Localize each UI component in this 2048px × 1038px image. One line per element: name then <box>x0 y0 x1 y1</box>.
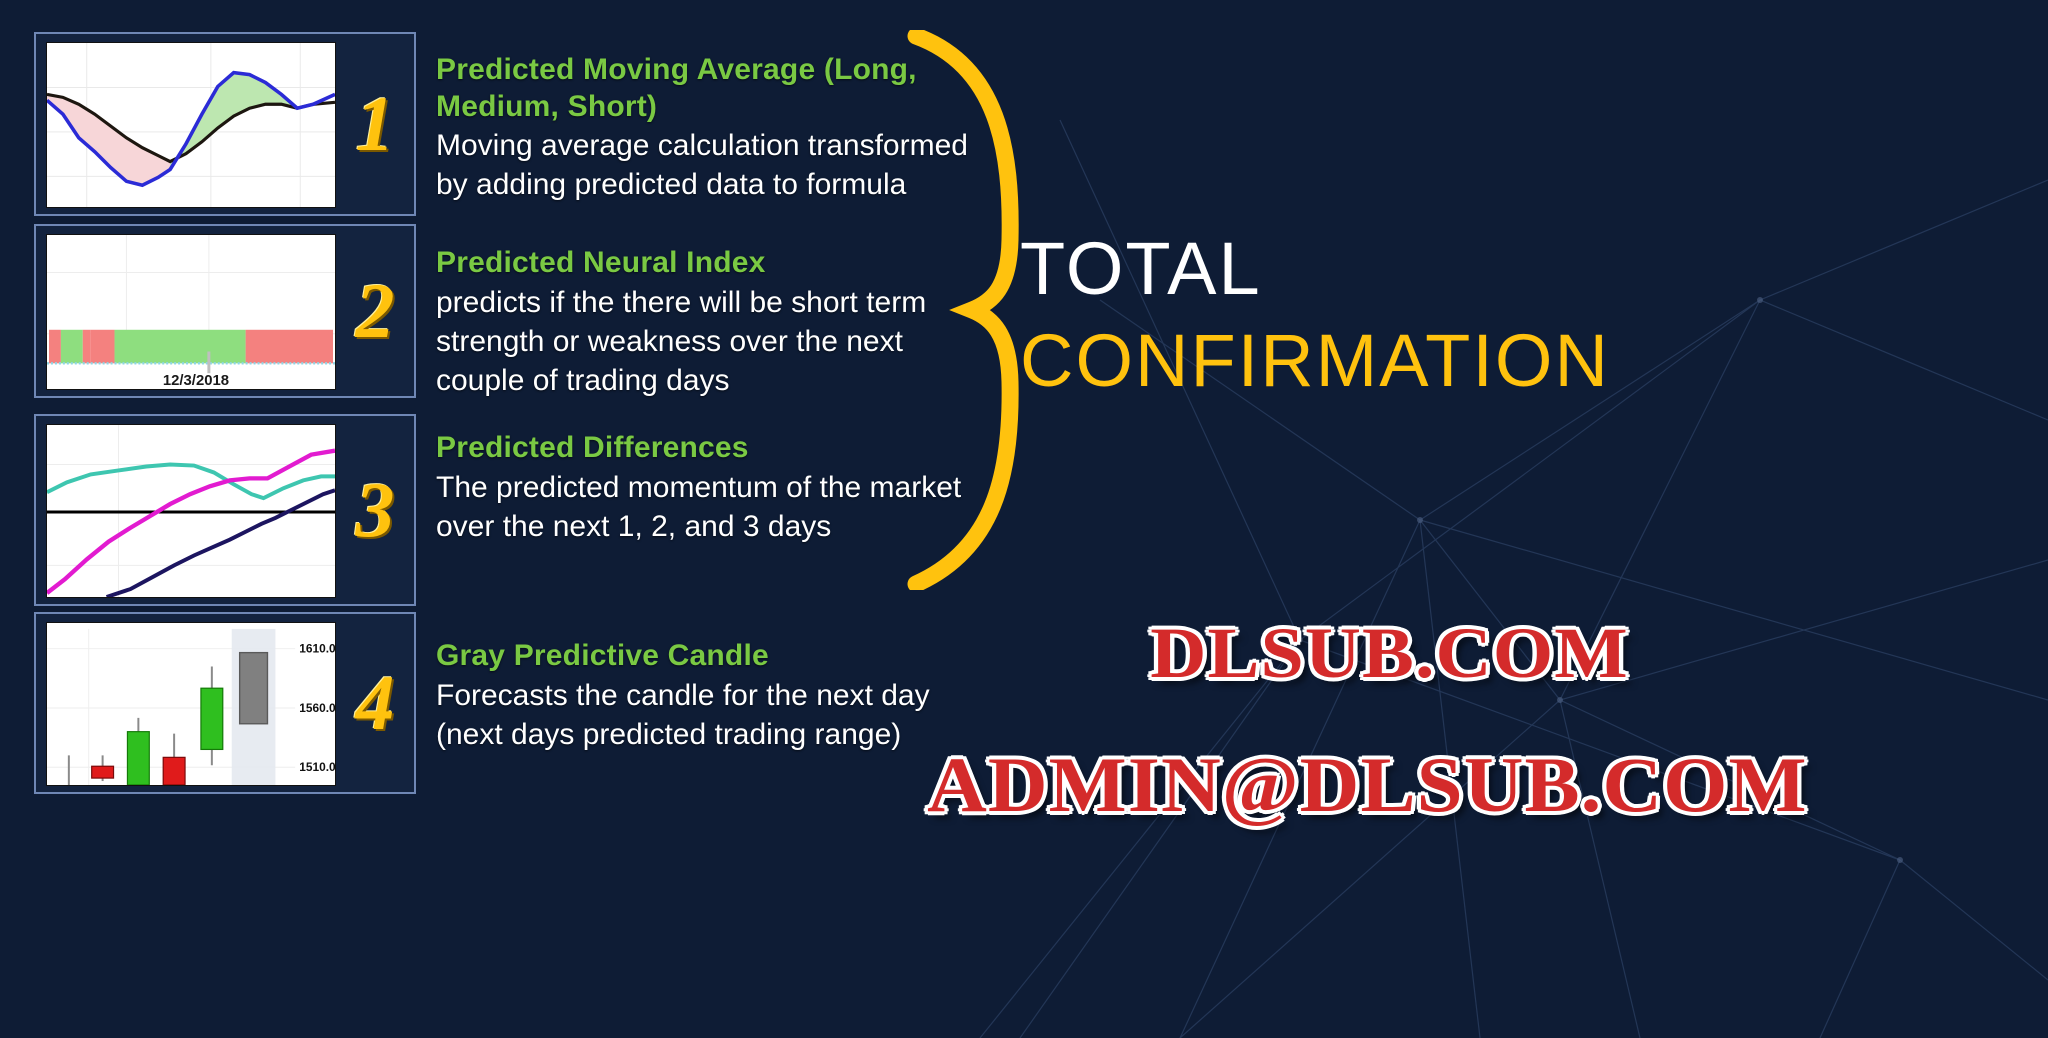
chart-thumbnail-neural-index: 12/3/2018 <box>46 234 336 390</box>
chart-thumbnail-predictive-candle: 1610.00 1560.00 1510.00 <box>46 622 336 786</box>
feature-text-4: Gray Predictive Candle Forecasts the can… <box>436 638 976 754</box>
infographic-root: 1 <box>0 0 2048 1038</box>
chart-thumbnail-moving-average <box>46 42 336 208</box>
feature-card-1: 1 <box>34 32 416 216</box>
step-number-container-4: 4 <box>336 614 414 792</box>
callout-line-2: CONFIRMATION <box>1020 318 2030 403</box>
step-number-container-2: 2 <box>336 226 414 396</box>
step-number-3: 3 <box>356 471 395 549</box>
watermark-email: ADMIN@DLSUB.COM <box>927 740 1808 830</box>
y-tick-1510: 1510.00 <box>299 760 335 774</box>
candlestick-chart: 1610.00 1560.00 1510.00 <box>47 623 335 785</box>
y-tick-1560: 1560.00 <box>299 701 335 715</box>
feature-text-1: Predicted Moving Average (Long, Medium, … <box>436 52 976 204</box>
neural-index-bars <box>49 330 333 364</box>
feature-body-2: predicts if the there will be short term… <box>436 283 976 400</box>
feature-body-4: Forecasts the candle for the next day (n… <box>436 676 976 754</box>
chart-thumbnail-predicted-differences <box>46 424 336 598</box>
callout-line-1: TOTAL <box>1020 230 2030 308</box>
feature-text-3: Predicted Differences The predicted mome… <box>436 430 976 546</box>
predicted-differences-chart <box>47 425 335 597</box>
feature-title-2: Predicted Neural Index <box>436 245 976 282</box>
watermark-site: DLSUB.COM <box>1150 612 1628 695</box>
y-tick-1610: 1610.00 <box>299 642 335 656</box>
feature-body-1: Moving average calculation transformed b… <box>436 126 976 204</box>
feature-card-3: 3 <box>34 414 416 606</box>
neural-index-chart: 12/3/2018 <box>47 235 335 389</box>
predictive-candle <box>232 629 276 785</box>
step-number-1: 1 <box>356 85 395 163</box>
total-confirmation-callout: TOTAL CONFIRMATION <box>1020 230 2030 403</box>
step-number-container-3: 3 <box>336 416 414 604</box>
step-number-4: 4 <box>356 664 395 742</box>
feature-title-1: Predicted Moving Average (Long, Medium, … <box>436 52 976 125</box>
date-label: 12/3/2018 <box>163 373 229 389</box>
feature-card-4: 1610.00 1560.00 1510.00 <box>34 612 416 794</box>
step-number-2: 2 <box>356 272 395 350</box>
feature-title-4: Gray Predictive Candle <box>436 638 976 675</box>
feature-body-3: The predicted momentum of the market ove… <box>436 468 976 546</box>
feature-text-2: Predicted Neural Index predicts if the t… <box>436 245 976 400</box>
moving-average-chart <box>47 43 335 207</box>
step-number-container-1: 1 <box>336 34 414 214</box>
feature-title-3: Predicted Differences <box>436 430 976 467</box>
feature-card-2: 12/3/2018 2 <box>34 224 416 398</box>
